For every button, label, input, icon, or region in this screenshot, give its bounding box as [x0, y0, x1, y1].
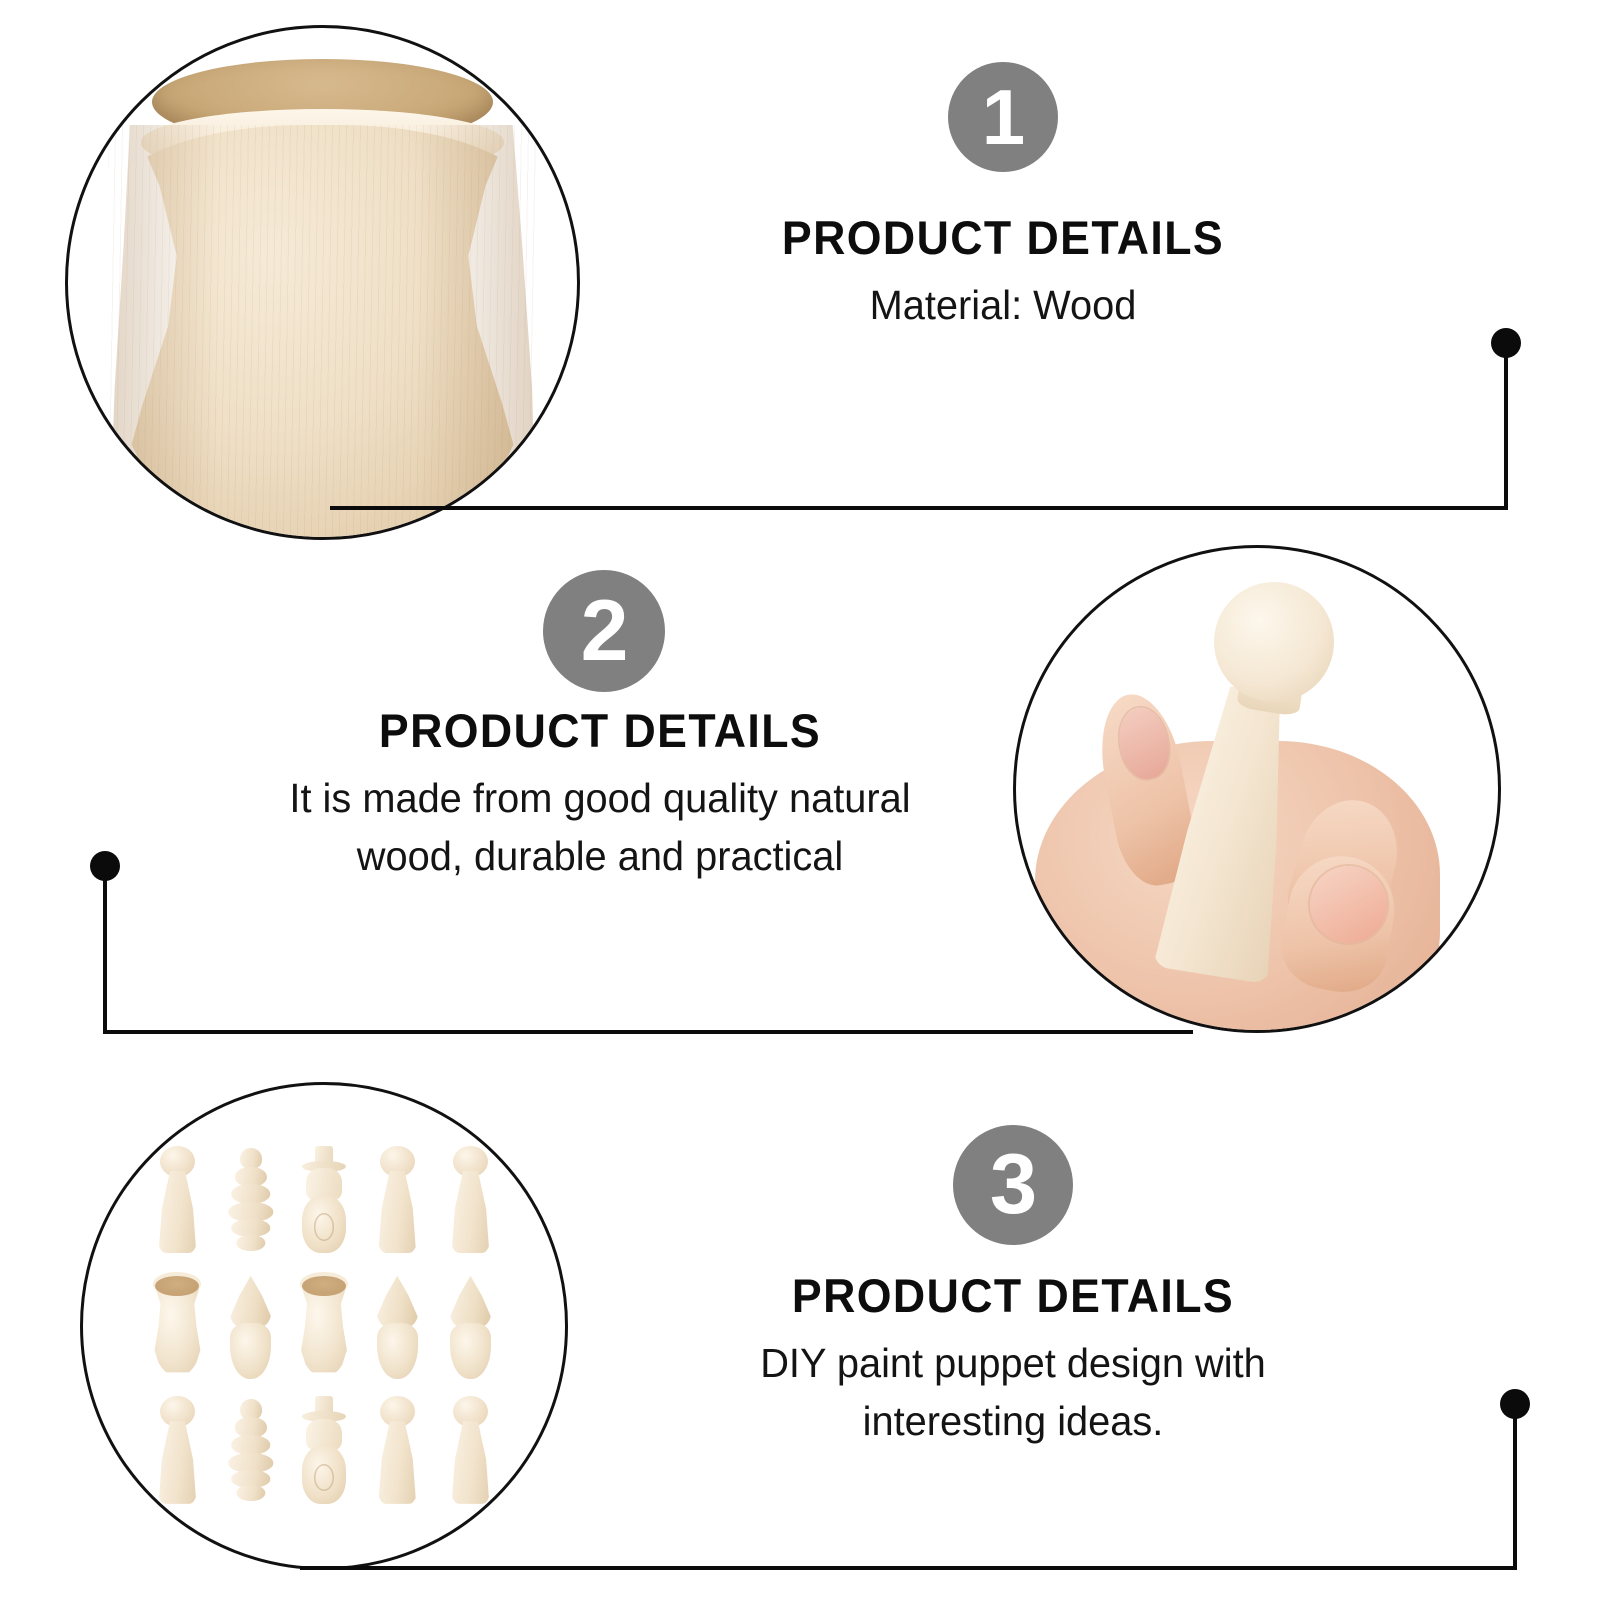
piece-peg-doll [361, 1389, 434, 1514]
peg-doll-head [1214, 582, 1335, 703]
piece-peg-doll [434, 1389, 507, 1514]
product-photo-1 [65, 25, 580, 540]
wooden-pieces-grid [141, 1138, 507, 1514]
infographic-canvas: 1 PRODUCT DETAILS Material: Wood 2 PRODU… [0, 0, 1600, 1600]
section-2-heading: PRODUCT DETAILS [192, 705, 1009, 757]
piece-peg-doll [141, 1389, 214, 1514]
connector-3-vertical [1513, 1404, 1517, 1570]
product-photo-3 [80, 1082, 568, 1570]
piece-cup [287, 1263, 360, 1388]
section-1-body: Material: Wood [664, 276, 1343, 334]
piece-acorn [434, 1263, 507, 1388]
connector-2-horizontal [103, 1030, 1193, 1034]
section-3-body-line-1: DIY paint puppet design with [674, 1334, 1353, 1392]
product-photo-2 [1013, 545, 1501, 1033]
piece-stacked-tree [214, 1138, 287, 1263]
piece-peg-doll [434, 1138, 507, 1263]
connector-2-vertical [103, 866, 107, 1032]
connector-1-horizontal [330, 506, 1506, 510]
section-2-body-line-2: wood, durable and practical [183, 827, 1017, 885]
section-3-heading: PRODUCT DETAILS [681, 1270, 1346, 1322]
piece-peg-doll [141, 1138, 214, 1263]
step-badge-1-number: 1 [982, 72, 1024, 163]
piece-peg-doll [361, 1138, 434, 1263]
step-badge-3-number: 3 [990, 1136, 1036, 1234]
section-2-text: PRODUCT DETAILS It is made from good qua… [170, 705, 1030, 885]
section-1-text: PRODUCT DETAILS Material: Wood [653, 212, 1353, 334]
section-2-body-line-1: It is made from good quality natural [183, 769, 1017, 827]
piece-stacked-tree [214, 1389, 287, 1514]
piece-cup [141, 1263, 214, 1388]
piece-acorn [361, 1263, 434, 1388]
wood-cup-illustration [68, 28, 577, 537]
step-badge-1: 1 [948, 62, 1058, 172]
section-3-text: PRODUCT DETAILS DIY paint puppet design … [663, 1270, 1363, 1450]
piece-acorn [214, 1263, 287, 1388]
hand-with-peg-doll-illustration [1016, 548, 1498, 1030]
connector-3-horizontal [300, 1566, 1515, 1570]
step-badge-2: 2 [543, 570, 665, 692]
step-badge-2-number: 2 [581, 582, 628, 681]
section-3-body-line-2: interesting ideas. [674, 1392, 1353, 1450]
step-badge-3: 3 [953, 1125, 1073, 1245]
piece-snowman [287, 1138, 360, 1263]
thumbnail [1310, 866, 1387, 943]
piece-snowman [287, 1389, 360, 1514]
connector-1-vertical [1504, 343, 1508, 510]
section-1-heading: PRODUCT DETAILS [671, 212, 1336, 264]
